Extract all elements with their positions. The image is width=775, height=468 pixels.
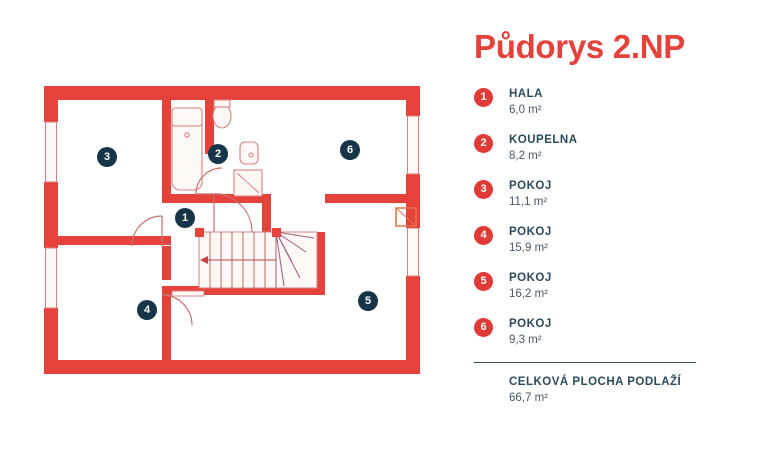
legend-badge-6: 6 (474, 318, 493, 337)
sink-icon (240, 142, 258, 164)
legend-text-1: HALA 6,0 m² (509, 86, 543, 119)
legend-badge-2: 2 (474, 134, 493, 153)
room-badge-5: 5 (358, 291, 378, 311)
total-area-value: 66,7 m² (509, 390, 744, 407)
total-area-block: CELKOVÁ PLOCHA PODLAŽÍ 66,7 m² (474, 374, 744, 407)
room-badge-4: 4 (137, 300, 157, 320)
window-left-upper (46, 122, 57, 182)
legend-text-3: POKOJ 11,1 m² (509, 178, 552, 211)
room-badge-2: 2 (208, 144, 228, 164)
legend-badge-4: 4 (474, 226, 493, 245)
legend-area-4: 15,9 m² (509, 240, 552, 257)
page-title: Půdorys 2.NP (474, 28, 744, 66)
floor-plan: 3 2 6 1 4 5 (44, 86, 420, 374)
window-right-upper (408, 116, 419, 174)
legend-name-4: POKOJ (509, 224, 552, 240)
room-badge-6: 6 (340, 140, 360, 160)
window-right-lower (408, 228, 419, 276)
staircase-icon (195, 228, 317, 288)
legend-panel: Půdorys 2.NP 1 HALA 6,0 m² 2 KOUPELNA 8,… (474, 28, 744, 407)
legend-name-2: KOUPELNA (509, 132, 578, 148)
legend-item-6: 6 POKOJ 9,3 m² (474, 316, 744, 353)
legend-area-5: 16,2 m² (509, 286, 552, 303)
walls (44, 86, 420, 374)
legend-item-2: 2 KOUPELNA 8,2 m² (474, 132, 744, 169)
legend-area-1: 6,0 m² (509, 102, 543, 119)
legend-item-3: 3 POKOJ 11,1 m² (474, 178, 744, 215)
legend-name-5: POKOJ (509, 270, 552, 286)
legend-name-1: HALA (509, 86, 543, 102)
legend-area-6: 9,3 m² (509, 332, 552, 349)
legend-text-6: POKOJ 9,3 m² (509, 316, 552, 349)
window-left-lower (46, 248, 57, 308)
toilet-icon (213, 100, 231, 128)
bathtub-icon (172, 108, 202, 190)
legend-item-4: 4 POKOJ 15,9 m² (474, 224, 744, 261)
floorplan-page: 3 2 6 1 4 5 Půdorys 2.NP 1 HALA 6,0 m² 2… (0, 0, 775, 468)
legend-divider (474, 362, 696, 363)
room-badge-3: 3 (97, 147, 117, 167)
legend-item-5: 5 POKOJ 16,2 m² (474, 270, 744, 307)
legend-name-6: POKOJ (509, 316, 552, 332)
legend-badge-3: 3 (474, 180, 493, 199)
legend-badge-1: 1 (474, 88, 493, 107)
legend-item-1: 1 HALA 6,0 m² (474, 86, 744, 123)
room-badge-1: 1 (175, 208, 195, 228)
floor-plan-drawing (44, 86, 420, 374)
shower-icon (234, 170, 262, 196)
legend-text-4: POKOJ 15,9 m² (509, 224, 552, 257)
legend-text-5: POKOJ 16,2 m² (509, 270, 552, 303)
legend-text-2: KOUPELNA 8,2 m² (509, 132, 578, 165)
legend-name-3: POKOJ (509, 178, 552, 194)
total-area-label: CELKOVÁ PLOCHA PODLAŽÍ (509, 374, 744, 390)
legend-area-3: 11,1 m² (509, 194, 552, 211)
legend-area-2: 8,2 m² (509, 148, 578, 165)
interior-walls (44, 100, 420, 360)
balcony-right (396, 206, 420, 228)
door-pokoj5 (172, 291, 204, 296)
legend-badge-5: 5 (474, 272, 493, 291)
